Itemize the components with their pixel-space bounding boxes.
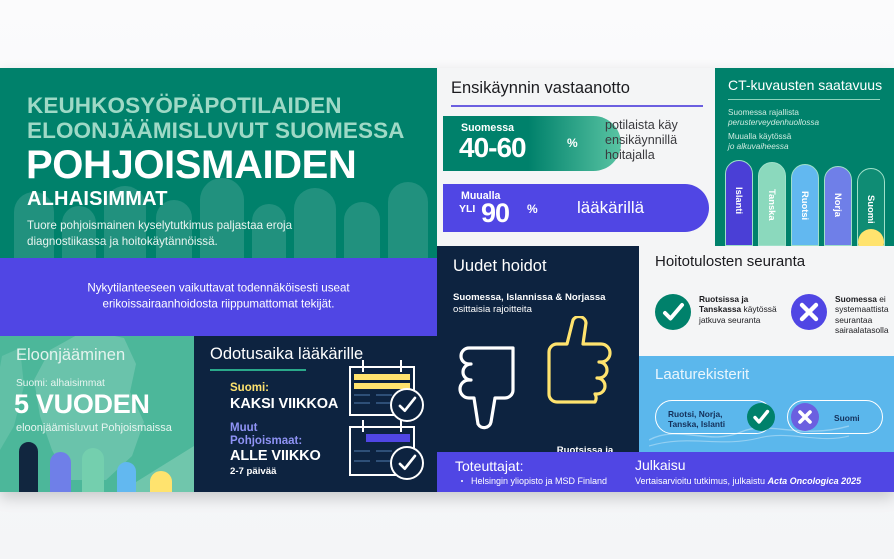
ct-note-2: Muualla käytössä jo alkuvaiheessa bbox=[728, 132, 791, 153]
ct-bar-label-tanska: Tanska bbox=[767, 189, 778, 221]
title-underline bbox=[451, 105, 703, 107]
hero-subhead: ALHAISIMMAT bbox=[27, 188, 168, 211]
hero-body-text: Tuore pohjoismainen kyselytutkimus palja… bbox=[27, 218, 357, 249]
survival-lead: Suomi: alhaisimmat bbox=[16, 378, 105, 389]
cross-icon bbox=[791, 403, 819, 431]
quality-registers-panel: Laaturekisterit Ruotsi, Norja, Tanska, I… bbox=[639, 356, 894, 452]
ct-bar-ruotsi: Ruotsi bbox=[791, 164, 819, 246]
survival-bar-1 bbox=[50, 452, 71, 492]
footer-left-item: Helsingin yliopisto ja MSD Finland bbox=[471, 476, 607, 486]
survival-bar-0 bbox=[19, 442, 38, 492]
treatments-title: Uudet hoidot bbox=[453, 257, 547, 276]
waiting-row-0-label: Suomi: bbox=[230, 382, 269, 394]
ct-availability-panel: CT-kuvausten saatavuus Suomessa rajallis… bbox=[715, 68, 894, 246]
survival-title: Eloonjääminen bbox=[16, 346, 125, 365]
ct-bar-label-norja: Norja bbox=[833, 193, 844, 217]
footer-right-text: Vertaisarvioitu tutkimus, julkaistu Acta… bbox=[635, 476, 861, 486]
survival-footnote: eloonjäämisluvut Pohjoismaissa bbox=[16, 422, 172, 434]
survival-big-number: 5 VUODEN bbox=[14, 389, 150, 420]
ct-bar-norja: Norja bbox=[824, 166, 852, 246]
treatments-negative-strong: Suomessa, Islannissa & Norjassa bbox=[453, 292, 606, 303]
waiting-time-title: Odotusaika lääkärille bbox=[210, 345, 363, 364]
title-underline bbox=[728, 99, 880, 100]
hero-panel: KEUHKOSYÖPÄPOTILAIDEN ELOONJÄÄMISLUVUT S… bbox=[0, 68, 437, 258]
ct-note-2-line-2: jo alkuvaiheessa bbox=[728, 142, 789, 151]
survival-bar-3 bbox=[117, 462, 136, 492]
infographic-board: KEUHKOSYÖPÄPOTILAIDEN ELOONJÄÄMISLUVUT S… bbox=[0, 68, 894, 492]
footer-right-text-before: Vertaisarvioitu tutkimus, julkaistu bbox=[635, 476, 768, 486]
outcomes-title: Hoitotulosten seuranta bbox=[655, 254, 805, 270]
quality-chip-1-label: Suomi bbox=[834, 413, 860, 423]
ct-title: CT-kuvausten saatavuus bbox=[728, 77, 882, 93]
ct-bar-islanti: Islanti bbox=[725, 160, 753, 246]
title-underline bbox=[210, 369, 306, 371]
check-circle-icon-1 bbox=[390, 388, 424, 422]
first-visit-row2-note: lääkärillä bbox=[577, 198, 644, 218]
first-visit-title: Ensikäynnin vastaanotto bbox=[451, 79, 630, 98]
first-visit-panel: Ensikäynnin vastaanotto Suomessa 40-60 %… bbox=[437, 68, 715, 246]
survival-bar-4 bbox=[150, 471, 172, 492]
footer-right-text-emphasis: Acta Oncologica 2025 bbox=[768, 476, 862, 486]
hero-headline: POHJOISMAIDEN bbox=[26, 146, 356, 185]
outcomes-item-0-strong: Ruotsissa ja Tanskassa bbox=[699, 294, 748, 314]
ct-note-1-line-1: Suomessa rajallista bbox=[728, 108, 799, 117]
check-circle-icon-2 bbox=[390, 446, 424, 480]
survival-panel: Eloonjääminen Suomi: alhaisimmat 5 VUODE… bbox=[0, 336, 194, 492]
context-banner: Nykytilanteeseen vaikuttavat todennäköis… bbox=[0, 258, 437, 336]
waiting-time-panel: Odotusaika lääkärille Suomi: KAKSI VIIKK… bbox=[194, 336, 437, 492]
survival-bar-chart bbox=[0, 434, 194, 492]
context-banner-text: Nykytilanteeseen vaikuttavat todennäköis… bbox=[39, 281, 399, 314]
ct-bar-label-suomi: Suomi bbox=[866, 195, 877, 224]
footer-right-title: Julkaisu bbox=[635, 457, 686, 473]
quality-title: Laaturekisterit bbox=[655, 366, 749, 383]
footer-panel: Toteuttajat: Helsingin yliopisto ja MSD … bbox=[437, 452, 894, 492]
quality-chip-0-label: Ruotsi, Norja, Tanska, Islanti bbox=[668, 409, 738, 429]
outcomes-item-1-text: Suomessa ei systemaattista seurantaa sai… bbox=[835, 294, 894, 335]
first-visit-row2-prefix: YLI bbox=[459, 203, 475, 215]
check-icon bbox=[747, 403, 775, 431]
infographic-stage: KEUHKOSYÖPÄPOTILAIDEN ELOONJÄÄMISLUVUT S… bbox=[0, 0, 894, 559]
ct-bar-label-islanti: Islanti bbox=[734, 187, 745, 214]
first-visit-row1-note: potilaista käy ensikäynnillä hoitajalla bbox=[605, 118, 715, 163]
footer-left-title: Toteuttajat: bbox=[455, 458, 524, 474]
treatments-negative-rest: osittaisia rajoitteita bbox=[453, 304, 532, 315]
ct-note-1: Suomessa rajallista perusterveydenhuollo… bbox=[728, 108, 819, 129]
outcomes-panel: Hoitotulosten seuranta Ruotsissa ja Tans… bbox=[639, 246, 894, 356]
treatments-negative-text: Suomessa, Islannissa & Norjassa osittais… bbox=[453, 292, 619, 317]
survival-bar-2 bbox=[82, 448, 104, 492]
cross-icon bbox=[791, 294, 827, 330]
ct-bar-tanska: Tanska bbox=[758, 162, 786, 246]
thumbs-down-icon bbox=[455, 338, 539, 430]
first-visit-row1-unit: % bbox=[567, 136, 578, 150]
ct-bar-chart: IslantiTanskaRuotsiNorjaSuomi bbox=[723, 154, 893, 246]
hero-kicker: KEUHKOSYÖPÄPOTILAIDEN ELOONJÄÄMISLUVUT S… bbox=[27, 93, 427, 143]
first-visit-row2-unit: % bbox=[527, 202, 538, 216]
check-icon bbox=[655, 294, 691, 330]
ct-bar-suomi: Suomi bbox=[857, 168, 885, 246]
ct-note-2-line-1: Muualla käytössä bbox=[728, 132, 791, 141]
outcomes-item-1-strong: Suomessa bbox=[835, 294, 877, 304]
waiting-row-1-value: ALLE VIIKKO bbox=[230, 448, 321, 464]
ct-note-1-line-2: perusterveydenhuollossa bbox=[728, 118, 819, 127]
first-visit-row1-number: 40-60 bbox=[459, 132, 526, 164]
waiting-row-1-note: 2-7 päivää bbox=[230, 466, 276, 477]
ct-bar-label-ruotsi: Ruotsi bbox=[800, 191, 811, 220]
thumbs-up-icon bbox=[541, 316, 627, 412]
waiting-row-1-label: Muut Pohjoismaat: bbox=[230, 422, 310, 448]
outcomes-item-0-text: Ruotsissa ja Tanskassa käytössä jatkuva … bbox=[699, 294, 783, 325]
waiting-row-0-value: KAKSI VIIKKOA bbox=[230, 396, 338, 412]
ct-suomi-highlight-dot bbox=[858, 229, 884, 246]
first-visit-row2-number: 90 bbox=[481, 198, 509, 229]
